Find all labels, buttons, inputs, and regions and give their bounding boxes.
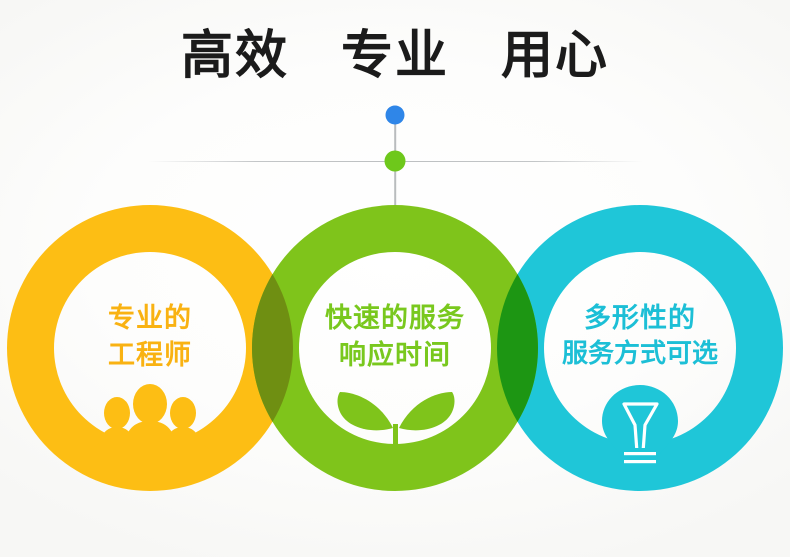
infographic-stage: 高效专业用心 [0,0,790,557]
venn-rings [0,0,790,557]
